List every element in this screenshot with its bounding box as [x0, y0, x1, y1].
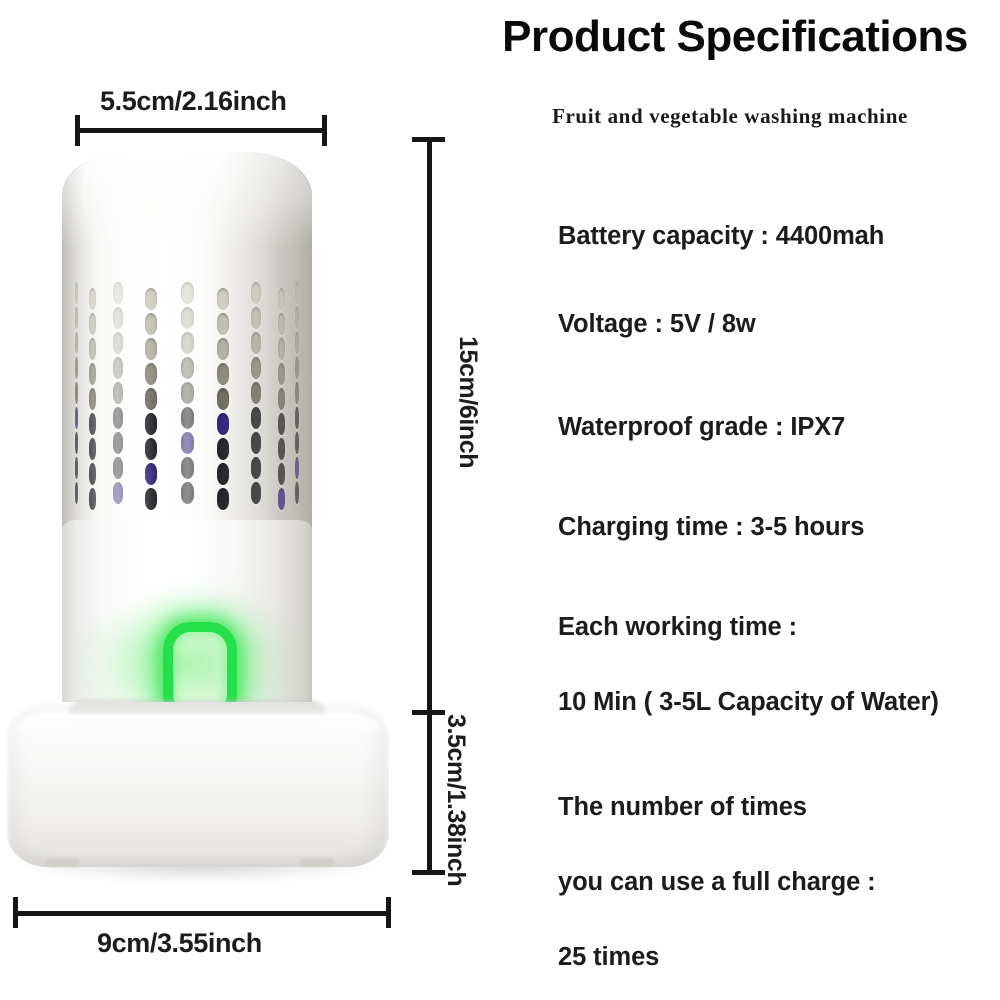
- perforation-hole: [251, 282, 261, 304]
- dimension-base-height-label: 3.5cm/1.38inch: [441, 714, 470, 886]
- perforation-hole: [89, 463, 96, 485]
- perforation-hole: [181, 457, 194, 479]
- perforation-hole: [217, 438, 229, 460]
- perforation-hole: [75, 357, 79, 379]
- perforation-hole: [181, 432, 194, 454]
- perforation-hole: [89, 288, 96, 310]
- perforation-hole: [145, 388, 157, 410]
- perforation-hole: [89, 338, 96, 360]
- perforation-hole: [295, 282, 299, 304]
- perforation-hole: [113, 332, 123, 354]
- perforation-hole: [251, 407, 261, 429]
- perforation-hole: [181, 357, 194, 379]
- perforation-hole: [295, 357, 299, 379]
- perforation-hole: [278, 338, 285, 360]
- perforation-hole: [251, 382, 261, 404]
- perforation-hole: [278, 488, 285, 510]
- spec-item-battery-capacity: Battery capacity : 4400mah: [558, 222, 884, 251]
- product-image: [0, 0, 470, 1000]
- product-subtitle: Fruit and vegetable washing machine: [470, 104, 990, 129]
- perforation-hole: [75, 307, 79, 329]
- perforation-hole: [75, 332, 79, 354]
- spec-item-uses-value: 25 times: [558, 943, 659, 972]
- perforation-hole: [295, 457, 299, 479]
- perforation-hole: [181, 407, 194, 429]
- perforation-hole: [113, 432, 123, 454]
- perforation-hole: [278, 363, 285, 385]
- perforation-hole: [278, 438, 285, 460]
- perforation-hole: [278, 313, 285, 335]
- perforation-hole: [217, 488, 229, 510]
- perforation-hole: [89, 388, 96, 410]
- perforation-hole: [145, 463, 157, 485]
- dimension-base-height-rule: [427, 710, 432, 875]
- perforation-hole: [278, 413, 285, 435]
- perforation-hole: [295, 382, 299, 404]
- perforation-hole: [113, 457, 123, 479]
- perforation-hole: [295, 332, 299, 354]
- page-title: Product Specifications: [470, 12, 1000, 62]
- dock-top-lip-highlight: [16, 714, 380, 740]
- perforation-hole: [145, 363, 157, 385]
- perforation-hole: [75, 382, 79, 404]
- perforation-hole: [113, 382, 123, 404]
- perforation-hole: [145, 288, 157, 310]
- perforation-hole: [278, 288, 285, 310]
- perforation-hole: [89, 438, 96, 460]
- perforation-hole: [278, 388, 285, 410]
- perforation-hole: [89, 488, 96, 510]
- perforation-hole: [251, 332, 261, 354]
- spec-item-uses-label-line2: you can use a full charge :: [558, 868, 876, 897]
- perforation-hole: [181, 282, 194, 304]
- perforation-hole: [251, 482, 261, 504]
- perforation-hole: [217, 363, 229, 385]
- perforation-hole: [217, 413, 229, 435]
- perforation-hole: [145, 488, 157, 510]
- perforation-hole: [75, 457, 79, 479]
- perforation-hole: [113, 482, 123, 504]
- dimension-top-width-cap-left: [75, 115, 80, 146]
- perforation-hole: [145, 313, 157, 335]
- dimension-top-width-label: 5.5cm/2.16inch: [100, 86, 287, 117]
- spec-item-working-time-label: Each working time :: [558, 613, 797, 642]
- product-illustration-area: 5.5cm/2.16inch 9cm/3.55inch 15cm/6inch 3…: [0, 0, 470, 1000]
- dock-foot-left: [46, 858, 80, 867]
- specifications-panel: Product Specifications Fruit and vegetab…: [470, 0, 1000, 1000]
- perforated-body: [62, 152, 312, 564]
- perforation-hole: [217, 313, 229, 335]
- dimension-bottom-width-label: 9cm/3.55inch: [97, 928, 262, 959]
- perforation-hole: [251, 307, 261, 329]
- dimension-body-height-rule: [427, 137, 432, 715]
- perforation-hole: [181, 482, 194, 504]
- dimension-bottom-width-cap-left: [13, 897, 18, 928]
- perforation-hole: [75, 482, 79, 504]
- dimension-bottom-width-rule: [13, 911, 391, 916]
- spec-item-uses-label-line1: The number of times: [558, 793, 807, 822]
- dock-foot-right: [300, 858, 334, 867]
- dimension-top-width-cap-right: [322, 115, 327, 146]
- perforation-hole: [75, 282, 79, 304]
- perforation-hole: [113, 307, 123, 329]
- perforation-hole: [217, 288, 229, 310]
- perforation-hole: [278, 463, 285, 485]
- perforation-hole: [181, 382, 194, 404]
- spec-item-waterproof-grade: Waterproof grade : IPX7: [558, 413, 845, 442]
- perforation-hole: [89, 413, 96, 435]
- perforation-hole: [75, 407, 79, 429]
- perforation-hole: [251, 457, 261, 479]
- perforation-hole: [145, 338, 157, 360]
- spec-item-charging-time: Charging time : 3-5 hours: [558, 513, 864, 542]
- perforation-hole: [295, 432, 299, 454]
- perforation-hole: [251, 357, 261, 379]
- spec-item-voltage: Voltage : 5V / 8w: [558, 310, 756, 339]
- dimension-body-height-cap-top: [412, 137, 445, 142]
- perforation-hole: [113, 407, 123, 429]
- perforation-hole: [145, 438, 157, 460]
- perforation-hole: [181, 332, 194, 354]
- dimension-top-width-rule: [75, 128, 327, 133]
- perforation-hole: [89, 313, 96, 335]
- perforation-hole: [295, 407, 299, 429]
- perforation-hole: [217, 388, 229, 410]
- perforation-hole: [295, 307, 299, 329]
- perforation-hole: [251, 432, 261, 454]
- perforation-hole: [181, 307, 194, 329]
- perforation-hole: [217, 338, 229, 360]
- perforation-hole: [217, 463, 229, 485]
- perforation-hole: [89, 363, 96, 385]
- perforation-hole: [113, 282, 123, 304]
- dimension-bottom-width-cap-right: [386, 897, 391, 928]
- perforation-hole: [295, 482, 299, 504]
- perforation-hole: [145, 413, 157, 435]
- spec-item-working-time-value: 10 Min ( 3-5L Capacity of Water): [558, 688, 939, 717]
- perforation-hole: [75, 432, 79, 454]
- perforation-hole: [113, 357, 123, 379]
